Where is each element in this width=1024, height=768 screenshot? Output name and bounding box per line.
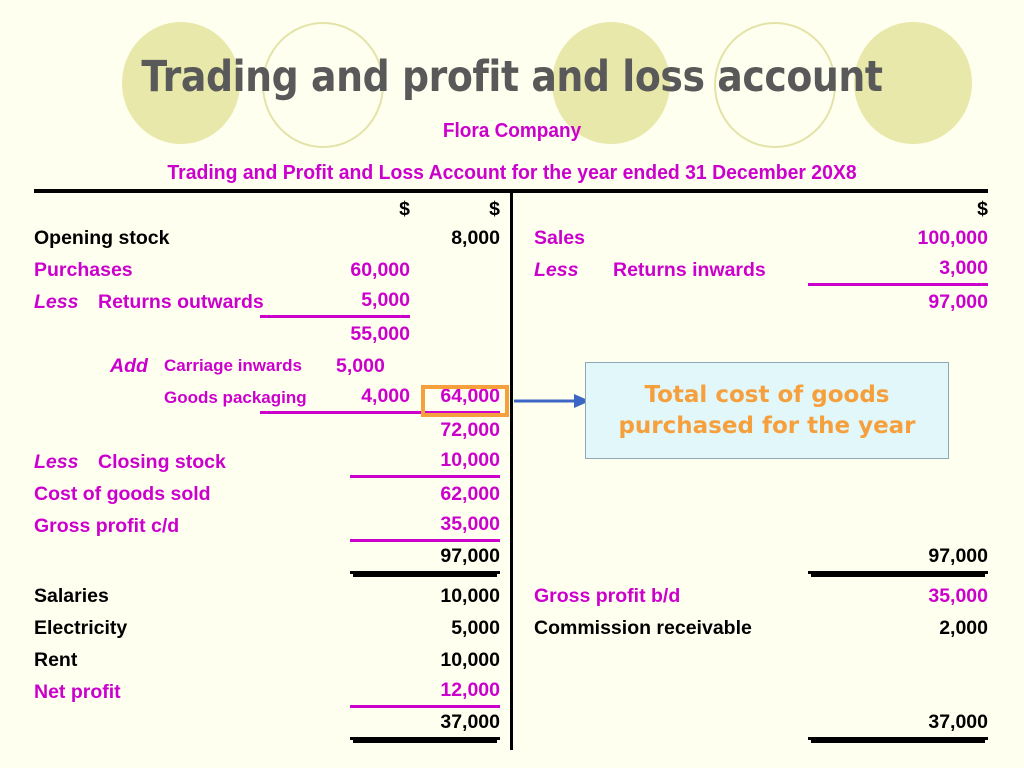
row-prefix-add: Add <box>110 350 148 382</box>
row-label: Cost of goods sold <box>34 478 211 510</box>
callout-text: Total cost of goods purchased for the ye… <box>618 380 915 442</box>
row-amount-inner: 5,000 <box>336 350 456 382</box>
row-label: Electricity <box>34 612 127 644</box>
row-amount-outer: 37,000 <box>808 708 988 740</box>
row-label: Salaries <box>34 580 109 612</box>
row-amount-outer: 10,000 <box>350 644 500 676</box>
row-amount-outer: 8,000 <box>350 222 500 254</box>
row-net-purchases-subtotal: 55,000 <box>0 318 510 350</box>
callout-arrow-icon <box>512 392 592 410</box>
row-gross-profit-cd: Gross profit c/d 35,000 <box>0 510 510 542</box>
row-profit-loss-total-right: 37,000 <box>513 708 1024 740</box>
row-electricity: Electricity 5,000 <box>0 612 510 644</box>
row-label: Sales <box>534 222 585 254</box>
highlight-box-total-cost-of-goods <box>421 385 509 417</box>
row-sales: Sales 100,000 <box>513 222 1024 254</box>
currency-header-row-right: $ <box>513 196 1024 222</box>
currency-symbol-outer: $ <box>350 196 500 222</box>
row-amount-outer: 12,000 <box>350 676 500 708</box>
row-spacer <box>513 510 1024 542</box>
row-purchases: Purchases 60,000 <box>0 254 510 286</box>
row-label: Rent <box>34 644 77 676</box>
row-spacer <box>513 644 1024 676</box>
row-amount-outer: 72,000 <box>350 414 500 446</box>
row-amount-outer: 35,000 <box>350 510 500 542</box>
company-name: Flora Company <box>26 120 999 143</box>
row-label: Purchases <box>34 254 133 286</box>
row-amount-inner: 60,000 <box>260 254 410 286</box>
slide-canvas: Trading and profit and loss account Flor… <box>0 0 1024 768</box>
row-net-profit: Net profit 12,000 <box>0 676 510 708</box>
callout-box: Total cost of goods purchased for the ye… <box>585 362 949 459</box>
row-label: Gross profit c/d <box>34 510 179 542</box>
row-amount-outer: 97,000 <box>350 542 500 574</box>
row-spacer <box>513 478 1024 510</box>
row-prefix-less: Less <box>34 286 78 318</box>
row-salaries: Salaries 10,000 <box>0 580 510 612</box>
row-returns-outwards: Less Returns outwards 5,000 <box>0 286 510 318</box>
row-amount-outer: 97,000 <box>808 542 988 574</box>
row-amount-outer: 3,000 <box>808 254 988 286</box>
page-title: Trading and profit and loss account <box>61 52 962 102</box>
row-prefix-less: Less <box>34 446 78 478</box>
row-net-sales: 97,000 <box>513 286 1024 318</box>
row-amount-outer: 62,000 <box>350 478 500 510</box>
row-label: Returns outwards <box>98 286 264 318</box>
callout-line-2: purchased for the year <box>618 411 915 442</box>
debit-side: $ $ Opening stock 8,000 Purchases 60,000… <box>0 196 510 740</box>
callout-line-1: Total cost of goods <box>618 380 915 411</box>
row-trading-total-right: 97,000 <box>513 542 1024 574</box>
row-opening-stock: Opening stock 8,000 <box>0 222 510 254</box>
row-amount-outer: 100,000 <box>808 222 988 254</box>
row-label: Opening stock <box>34 222 169 254</box>
row-closing-stock: Less Closing stock 10,000 <box>0 446 510 478</box>
currency-header-row: $ $ <box>0 196 510 222</box>
row-trading-total: 97,000 <box>0 542 510 574</box>
credit-side: $ Sales 100,000 Less Returns inwards 3,0… <box>513 196 1024 740</box>
row-cost-of-goods-sold: Cost of goods sold 62,000 <box>0 478 510 510</box>
row-spacer <box>513 318 1024 350</box>
row-amount-inner: 5,000 <box>260 286 410 318</box>
row-amount-inner: 55,000 <box>260 318 410 350</box>
row-gross-profit-bd: Gross profit b/d 35,000 <box>513 580 1024 612</box>
row-profit-loss-total: 37,000 <box>0 708 510 740</box>
row-goods-available-total: 72,000 <box>0 414 510 446</box>
row-amount-outer: 37,000 <box>350 708 500 740</box>
statement-subtitle: Trading and Profit and Loss Account for … <box>15 162 1008 185</box>
row-spacer <box>513 676 1024 708</box>
row-amount-outer: 5,000 <box>350 612 500 644</box>
row-amount-outer: 2,000 <box>808 612 988 644</box>
row-amount-outer: 10,000 <box>350 580 500 612</box>
row-amount-outer: 97,000 <box>808 286 988 318</box>
row-carriage-inwards: Add Carriage inwards 5,000 <box>0 350 510 382</box>
row-prefix-less: Less <box>534 254 578 286</box>
row-label: Gross profit b/d <box>534 580 680 612</box>
row-label: Net profit <box>34 676 121 708</box>
row-commission-receivable: Commission receivable 2,000 <box>513 612 1024 644</box>
row-label: Returns inwards <box>613 254 766 286</box>
row-label: Carriage inwards <box>164 350 302 382</box>
row-amount-outer: 10,000 <box>350 446 500 478</box>
currency-symbol-outer-right: $ <box>808 196 988 222</box>
row-rent: Rent 10,000 <box>0 644 510 676</box>
row-label: Closing stock <box>98 446 226 478</box>
row-label: Commission receivable <box>534 612 752 644</box>
row-amount-outer: 35,000 <box>808 580 988 612</box>
row-returns-inwards: Less Returns inwards 3,000 <box>513 254 1024 286</box>
